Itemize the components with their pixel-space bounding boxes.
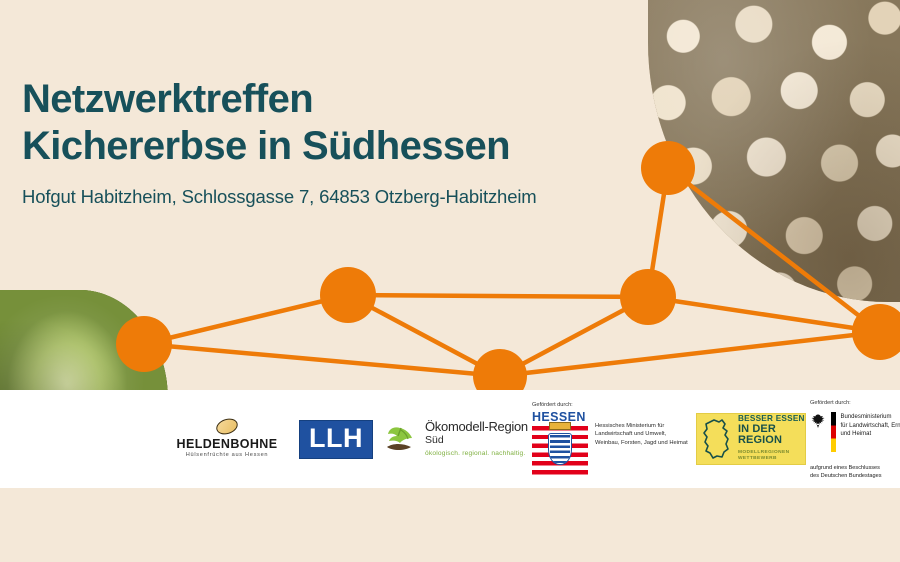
headline-block: Netzwerktreffen Kichererbse in Südhessen… — [22, 76, 662, 208]
leaf-sprout-icon — [384, 422, 418, 456]
logo-llh: LLH — [288, 390, 384, 488]
logo-bundesministerium: Gefördert durch: Bundesministerium für L… — [810, 390, 900, 488]
edge-n1-n2 — [144, 295, 348, 344]
event-poster: Netzwerktreffen Kichererbse in Südhessen… — [0, 0, 900, 562]
bund-ministry-line1: Bundesministerium — [841, 413, 900, 422]
page-title: Netzwerktreffen Kichererbse in Südhessen — [22, 76, 662, 170]
dried-chickpeas-photo — [648, 0, 900, 302]
edge-n4-n6 — [648, 297, 880, 332]
heldenbohne-tagline: Hülsenfrüchte aus Hessen — [166, 453, 288, 459]
oekomodell-line1: Ökomodell-Region — [425, 420, 528, 435]
bund-note-line1: aufgrund eines Beschlusses — [810, 464, 900, 472]
chickpeas-shading — [648, 0, 900, 302]
network-node-n6 — [852, 304, 900, 360]
besser-essen-sub2: WETTBEWERB — [738, 456, 805, 462]
heldenbohne-name: HELDENBOHNE — [166, 438, 288, 451]
bund-ministry-line2: für Landwirtschaft, Ernährung — [841, 422, 900, 431]
bundesadler-icon — [810, 413, 826, 429]
hessen-ministry-name: Hessisches Ministerium für Landwirtschaf… — [595, 411, 692, 447]
bund-note-line2: des Deutschen Bundestages — [810, 472, 900, 480]
hessen-funded-label: Gefördert durch: — [532, 402, 692, 408]
network-node-n2 — [320, 267, 376, 323]
edge-n1-n3 — [144, 344, 500, 376]
bund-ministry-line3: und Heimat — [841, 430, 900, 439]
edge-n2-n3 — [348, 295, 500, 376]
edge-n3-n6 — [500, 332, 880, 376]
headline-line-1: Netzwerktreffen — [22, 77, 313, 121]
oekomodell-line2: Süd — [425, 435, 528, 447]
hessen-lion-shield-icon — [532, 426, 588, 478]
sponsor-logo-band: HELDENBOHNE Hülsenfrüchte aus Hessen LLH — [0, 390, 900, 488]
germany-map-icon — [700, 418, 736, 460]
headline-line-2: Kichererbse in Südhessen — [22, 123, 662, 170]
besser-essen-line2: IN DER REGION — [738, 424, 805, 447]
bund-funded-label: Gefördert durch: — [810, 400, 900, 406]
logo-hessen-ministry: Gefördert durch: HESSEN Hessisches Minis… — [532, 390, 692, 488]
logo-oekomodell-region: Ökomodell-Region Süd ökologisch. regiona… — [384, 390, 532, 488]
venue-address: Hofgut Habitzheim, Schlossgasse 7, 64853… — [22, 186, 662, 208]
edge-n3-n4 — [500, 297, 648, 376]
german-flag-bar — [831, 412, 836, 452]
logo-besser-essen: BESSER ESSEN IN DER REGION MODELLREGIONE… — [692, 390, 810, 488]
edge-n2-n4 — [348, 295, 648, 297]
llh-abbr: LLH — [299, 420, 373, 459]
oekomodell-tagline: ökologisch. regional. nachhaltig. — [425, 450, 528, 457]
bean-icon — [214, 416, 240, 437]
logo-heldenbohne: HELDENBOHNE Hülsenfrüchte aus Hessen — [166, 390, 288, 488]
